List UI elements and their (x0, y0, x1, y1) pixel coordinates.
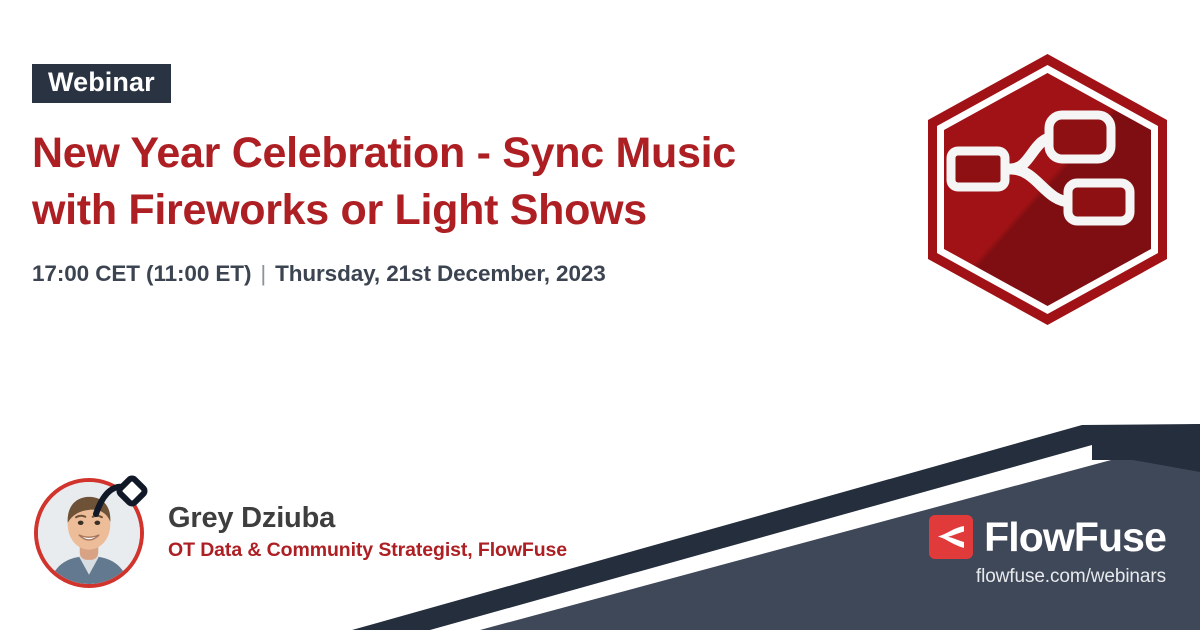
event-time: 17:00 CET (11:00 ET) (32, 261, 251, 286)
speaker-details: Grey Dziuba OT Data & Community Strategi… (168, 502, 567, 563)
webinar-badge: Webinar (32, 64, 171, 103)
diagonal-dark-band-upper (1090, 424, 1200, 472)
page-title-line-2: with Fireworks or Light Shows (32, 182, 872, 239)
speaker-name: Grey Dziuba (168, 502, 567, 535)
flowfuse-logo-row: FlowFuse (929, 515, 1166, 559)
event-datetime: 17:00 CET (11:00 ET)|Thursday, 21st Dece… (32, 261, 872, 287)
flowfuse-mark-icon (929, 515, 973, 559)
event-date: Thursday, 21st December, 2023 (275, 261, 606, 286)
flowfuse-url: flowfuse.com/webinars (929, 566, 1166, 588)
avatar (34, 478, 144, 588)
node-diamond-accent (92, 474, 156, 522)
page-title-line-1: New Year Celebration - Sync Music (32, 125, 872, 182)
banner-content: Webinar New Year Celebration - Sync Musi… (32, 64, 872, 287)
node-red-hexagon-icon (925, 52, 1170, 327)
flowfuse-wordmark: FlowFuse (984, 517, 1166, 558)
datetime-separator: | (260, 261, 266, 287)
speaker-block: Grey Dziuba OT Data & Community Strategi… (34, 478, 567, 588)
page-title: New Year Celebration - Sync Music with F… (32, 125, 872, 239)
webinar-banner: Webinar New Year Celebration - Sync Musi… (0, 0, 1200, 630)
flowfuse-lockup: FlowFuse flowfuse.com/webinars (929, 515, 1166, 588)
speaker-role: OT Data & Community Strategist, FlowFuse (168, 539, 567, 562)
